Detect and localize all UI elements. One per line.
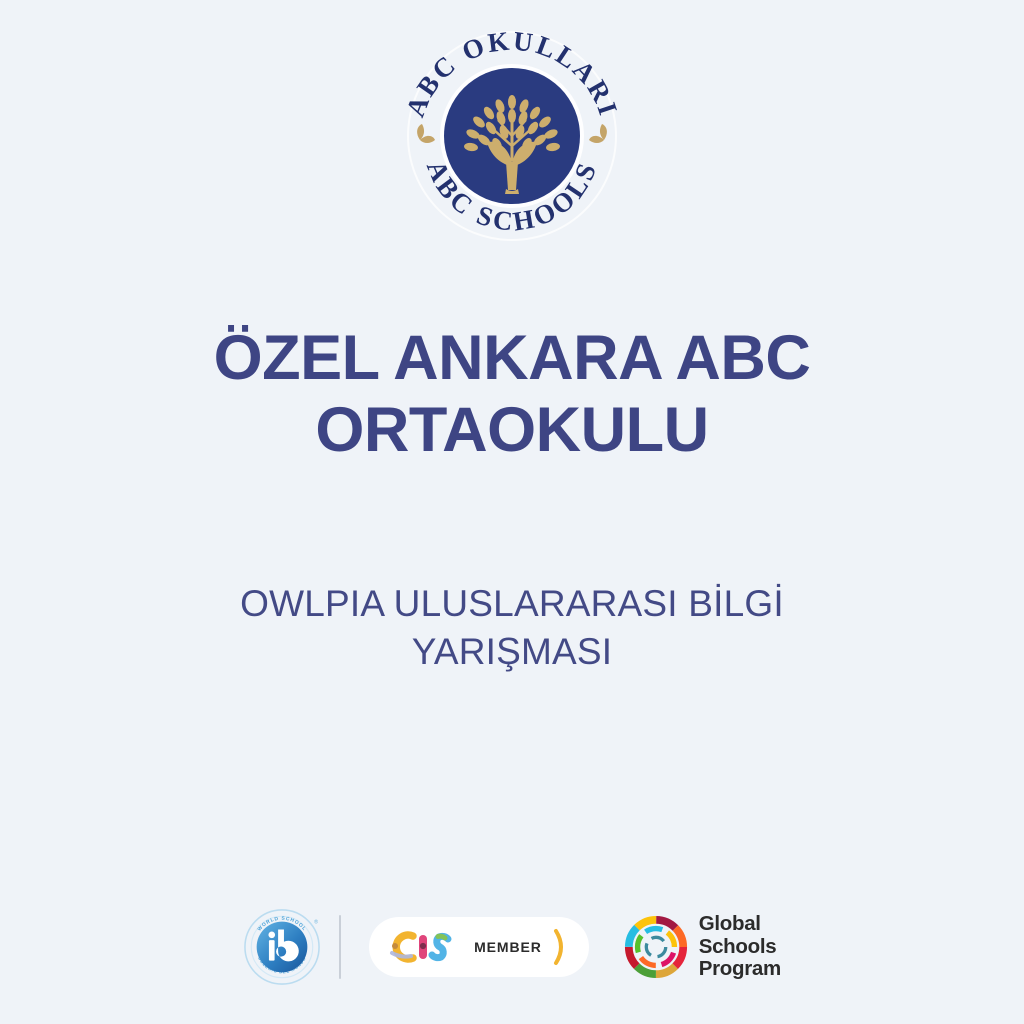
cis-member-label: MEMBER xyxy=(474,939,542,955)
cis-wordmark-icon xyxy=(385,929,463,965)
page-subtitle: OWLPIA ULUSLARARASI BİLGİ YARIŞMASI xyxy=(0,580,1024,676)
gsp-line-3: Program xyxy=(699,958,781,981)
global-schools-program-logo: Global Schools Program xyxy=(623,913,781,982)
sdg-wheel-icon xyxy=(623,914,689,980)
logo-divider xyxy=(339,915,341,979)
cis-paren-icon xyxy=(553,927,569,967)
svg-text:®: ® xyxy=(314,919,318,926)
gsp-line-1: Global xyxy=(699,913,781,936)
page-title: ÖZEL ANKARA ABC ORTAOKULU xyxy=(0,322,1024,467)
ib-world-school-logo: WORLD SCHOOL COLEGIO DEL MUNDO ® xyxy=(243,908,321,986)
subtitle-line-1: OWLPIA ULUSLARARASI BİLGİ xyxy=(140,580,884,628)
accreditation-logo-row: WORLD SCHOOL COLEGIO DEL MUNDO ® xyxy=(0,908,1024,986)
leaf-ornament-right xyxy=(589,124,607,143)
cis-member-badge: MEMBER xyxy=(369,917,589,977)
school-crest-logo: ABC OKULLARI ABC SCHOOLS xyxy=(394,18,630,254)
poster-canvas: ABC OKULLARI ABC SCHOOLS xyxy=(0,0,1024,1024)
main-title-line-1: ÖZEL ANKARA ABC xyxy=(100,322,924,394)
global-schools-program-text: Global Schools Program xyxy=(699,913,781,982)
gsp-line-2: Schools xyxy=(699,936,781,959)
subtitle-line-2: YARIŞMASI xyxy=(140,628,884,676)
main-title-line-2: ORTAOKULU xyxy=(100,394,924,466)
leaf-ornament-left xyxy=(417,124,435,143)
